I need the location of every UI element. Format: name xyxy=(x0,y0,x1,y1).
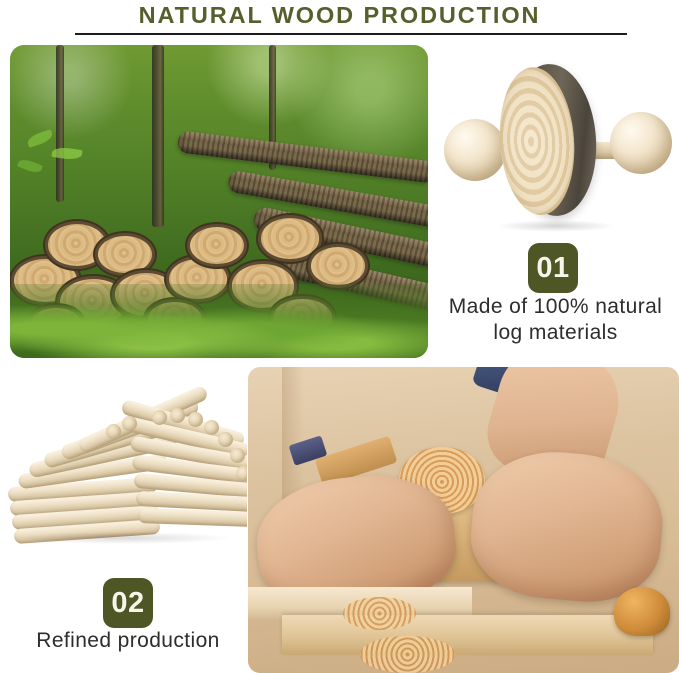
dowel-end-cap xyxy=(188,412,203,427)
log-end xyxy=(311,247,365,284)
tree-trunk xyxy=(56,45,64,202)
log-end xyxy=(261,218,320,258)
page-title: NATURAL WOOD PRODUCTION xyxy=(0,2,679,29)
infographic-root: NATURAL WOOD PRODUCTION xyxy=(0,0,679,673)
white-backdrop xyxy=(2,372,247,562)
log-pile-photo xyxy=(10,45,428,358)
drop-shadow xyxy=(496,220,616,232)
feature-badge-01: 01 xyxy=(528,243,578,293)
dowel-end-cap xyxy=(204,420,219,435)
dowel-end-cap xyxy=(170,408,185,423)
plank-front xyxy=(282,615,653,655)
plane-knob xyxy=(614,587,670,636)
log-slice-wheel xyxy=(505,61,601,219)
forest-undergrowth xyxy=(10,284,428,358)
dowel-end-cap xyxy=(106,424,121,439)
white-backdrop xyxy=(434,52,679,238)
wooden-ball-left xyxy=(444,119,506,181)
drop-shadow xyxy=(20,532,230,544)
dowel-end-cap xyxy=(152,410,167,425)
wood-shavings xyxy=(343,597,416,631)
feature-caption-01: Made of 100% natural log materials xyxy=(432,294,679,345)
title-divider xyxy=(75,33,627,35)
wood-shavings xyxy=(360,636,455,673)
feature-caption-02: Refined production xyxy=(0,628,256,654)
log-end xyxy=(98,236,152,273)
wooden-dowel-bridge-photo xyxy=(2,372,247,562)
badge-number-02: 02 xyxy=(111,589,144,618)
wooden-ball-right xyxy=(610,112,672,174)
carpenter-planing-photo xyxy=(248,367,679,673)
dowel-end-cap xyxy=(236,466,247,481)
feature-badge-02: 02 xyxy=(103,578,153,628)
dowel-end-cap xyxy=(122,416,137,431)
badge-number-01: 01 xyxy=(536,254,569,283)
log-end xyxy=(48,224,107,266)
wooden-roller-toy-photo xyxy=(434,52,679,238)
dowel-end-cap xyxy=(218,432,233,447)
dowel-end-cap xyxy=(230,448,245,463)
header: NATURAL WOOD PRODUCTION xyxy=(0,0,679,40)
log-end xyxy=(190,227,244,264)
